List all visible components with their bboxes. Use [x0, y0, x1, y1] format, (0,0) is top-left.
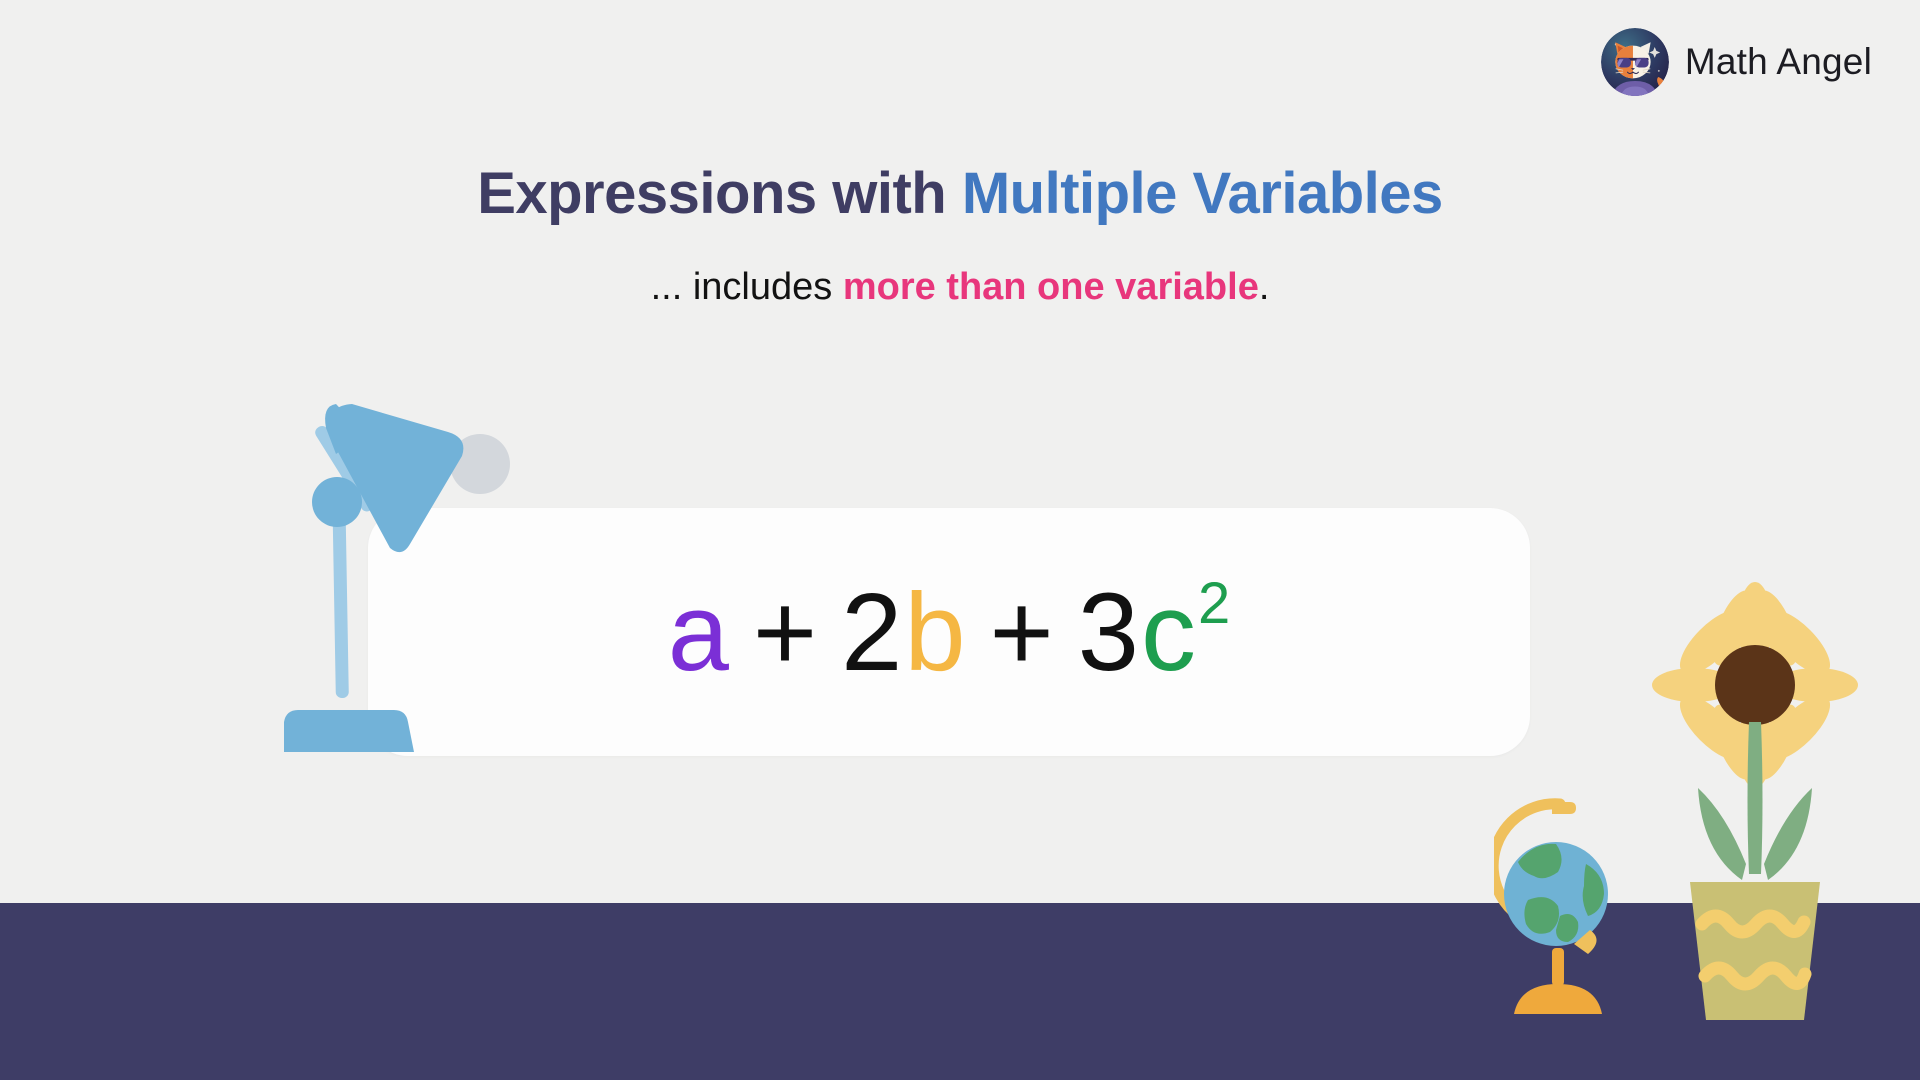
- cat-avatar-icon: [1601, 28, 1669, 96]
- desk-lamp-illustration: [284, 402, 552, 754]
- page-title: Expressions with Multiple Variables: [0, 162, 1920, 226]
- brand-logo[interactable]: Math Angel: [1601, 28, 1872, 96]
- variable-a: a: [668, 569, 731, 696]
- title-part-dark: Expressions with: [477, 161, 962, 226]
- coefficient-3: 3: [1078, 569, 1141, 696]
- title-part-highlight: Multiple Variables: [962, 161, 1443, 226]
- slide-canvas: Math Angel Expressions with Multiple Var…: [0, 0, 1920, 1080]
- page-subtitle: ... includes more than one variable.: [0, 266, 1920, 310]
- brand-name: Math Angel: [1685, 41, 1872, 83]
- subtitle-emphasis: more than one variable: [843, 266, 1259, 308]
- variable-b: b: [904, 569, 967, 696]
- variable-c: c: [1141, 569, 1198, 696]
- coefficient-2: 2: [841, 569, 904, 696]
- subtitle-period: .: [1259, 266, 1270, 308]
- floor-band: [0, 903, 1920, 1080]
- operator-plus-2: +: [990, 569, 1056, 696]
- globe-illustration: [1494, 790, 1626, 1022]
- subtitle-lead: ... includes: [651, 266, 843, 308]
- sunflower-plant-illustration: [1650, 580, 1860, 1022]
- operator-plus-1: +: [753, 569, 819, 696]
